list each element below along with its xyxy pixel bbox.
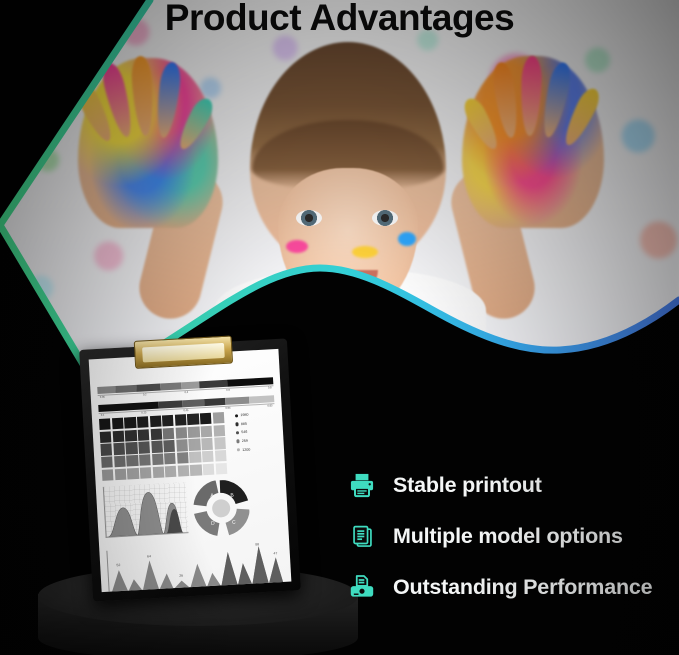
- legend-label: 885: [241, 422, 247, 426]
- donut-chart: A B C D: [192, 479, 251, 538]
- donut-label-c: C: [232, 520, 236, 526]
- shirt-paint-2: [352, 332, 374, 347]
- svg-text:88: 88: [255, 542, 259, 546]
- tick: 0.2: [143, 393, 147, 399]
- mountain-chart: [103, 482, 189, 538]
- clipboard-with-report[interactable]: 0.05 0.2 0.4 0.6 0.8 0.1 0.25 0.45 0.65 …: [79, 338, 301, 601]
- legend-label: 1980: [240, 413, 248, 417]
- feature-item-outstanding-performance[interactable]: Outstanding Performance: [345, 564, 675, 610]
- printer-icon: [345, 468, 379, 502]
- feature-list: Stable printout Multiple model options: [345, 462, 675, 615]
- documents-stack-icon: [345, 519, 379, 553]
- mid-charts: A B C D: [103, 477, 282, 543]
- svg-text:64: 64: [147, 554, 151, 558]
- left-eye: [296, 210, 322, 226]
- legend-dot: [236, 431, 240, 435]
- svg-text:26: 26: [179, 574, 183, 578]
- feature-label: Outstanding Performance: [393, 575, 652, 600]
- hero-photo: [0, 0, 679, 400]
- feature-item-stable-printout[interactable]: Stable printout: [345, 462, 675, 508]
- svg-text:52: 52: [116, 563, 120, 567]
- feature-label: Multiple model options: [393, 524, 623, 549]
- legend-label: 1200: [242, 447, 250, 451]
- tick: 0.05: [100, 396, 105, 402]
- face-paint-1: [286, 240, 308, 253]
- clipboard-gold-clip[interactable]: [134, 335, 233, 368]
- face-paint-2: [352, 246, 378, 258]
- product-advantages-banner: Product Advantages 0.05 0.2 0.4 0.6: [0, 0, 679, 655]
- right-eye: [372, 210, 398, 226]
- legend-label: 546: [241, 430, 247, 434]
- legend-label: 259: [242, 439, 248, 443]
- legend-dot: [235, 422, 239, 426]
- tick: 0.4: [185, 391, 189, 397]
- report-page: 0.05 0.2 0.4 0.6 0.8 0.1 0.25 0.45 0.65 …: [89, 349, 292, 592]
- legend-dot: [235, 414, 239, 418]
- face-paint-3: [398, 232, 416, 246]
- legend-dot: [237, 448, 241, 452]
- shirt-paint-1: [300, 316, 326, 332]
- grayscale-swatch-grid: [99, 412, 227, 481]
- legend-item: 1200: [237, 444, 271, 454]
- grayscale-legend: 1980 885 546 259 1200: [235, 410, 271, 455]
- feature-item-multiple-model-options[interactable]: Multiple model options: [345, 513, 675, 559]
- grayscale-section: 1980 885 546 259 1200: [99, 409, 278, 481]
- tick: 0.6: [226, 389, 230, 395]
- tick: 0.8: [268, 386, 272, 392]
- feature-label: Stable printout: [393, 473, 542, 498]
- smile: [320, 270, 378, 292]
- shirt-paint-3: [392, 318, 412, 332]
- printer-document-icon: [345, 570, 379, 604]
- svg-text:47: 47: [273, 551, 277, 555]
- hero-photo-clip: [0, 0, 679, 400]
- legend-dot: [236, 440, 240, 444]
- page-title: Product Advantages: [0, 0, 679, 40]
- donut-label-d: D: [211, 521, 215, 527]
